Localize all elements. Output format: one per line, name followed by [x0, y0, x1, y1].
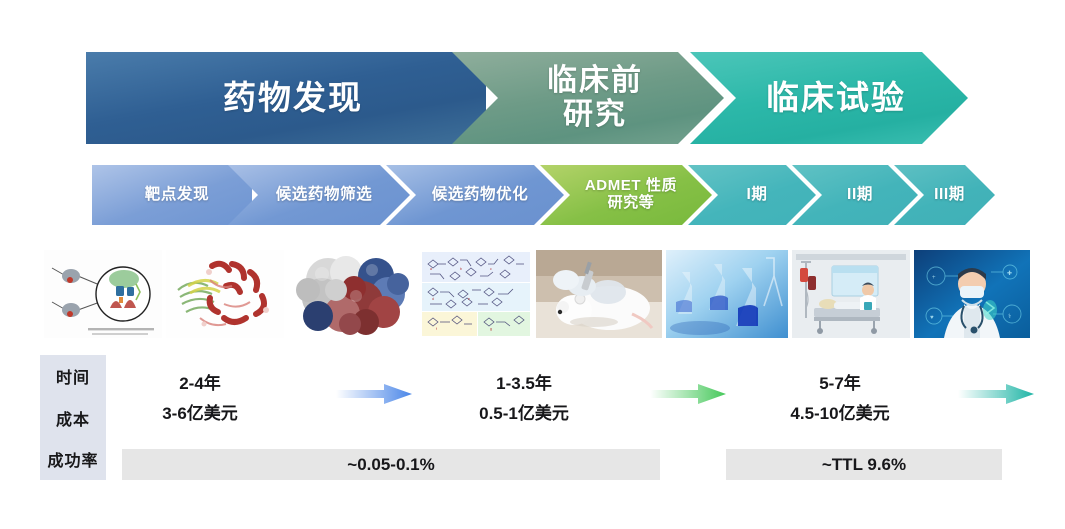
metric-label-cost: 成本	[40, 397, 106, 439]
thumbnail-protein-ribbon	[166, 250, 284, 338]
metric-row-labels: 时间 成本 成功率	[40, 355, 106, 480]
step-label: I期	[736, 186, 767, 203]
svg-text:g: g	[490, 327, 492, 331]
stage-drug-discovery: 药物发现	[86, 52, 486, 144]
success-rate-bar-discovery: ~0.05-0.1%	[122, 449, 660, 480]
svg-text:♥: ♥	[930, 315, 934, 321]
assay-diagram-icon	[44, 250, 162, 338]
stage-label: 临床前研究	[533, 64, 643, 131]
thumbnail-lab-glassware	[666, 250, 788, 338]
svg-text:e: e	[468, 297, 470, 301]
svg-text:c: c	[490, 267, 492, 271]
metric-time-discovery: 2-4年	[120, 369, 280, 394]
metric-cost-discovery: 3-6亿美元	[120, 399, 280, 424]
step-label: III期	[924, 186, 965, 203]
protein-ribbon-icon	[166, 250, 284, 338]
metric-time-preclinical: 1-3.5年	[434, 369, 614, 394]
stage-clinical-trials: 临床试验	[690, 52, 968, 144]
step-candidate-optimization: 候选药物优化	[386, 165, 564, 225]
step-label: ADMET 性质研究等	[575, 178, 677, 212]
arrow-teal-icon	[958, 383, 1034, 405]
step-target-discovery: 靶点发现	[92, 165, 252, 225]
step-candidate-screening: 候选药物筛选	[228, 165, 410, 225]
step-label: 候选药物优化	[422, 186, 529, 203]
thumbnail-reaction-scheme: ab cd ef g	[420, 250, 532, 338]
metric-time-clinical: 5-7年	[750, 369, 930, 394]
thumbnail-lab-mouse	[536, 250, 662, 338]
spacefill-model-icon	[288, 250, 416, 338]
svg-text:⚕: ⚕	[1008, 313, 1011, 320]
arrow-blue-icon	[336, 383, 412, 405]
step-label: 候选药物筛选	[266, 186, 373, 203]
metric-label-time: 时间	[40, 355, 106, 397]
step-admet: ADMET 性质研究等	[540, 165, 712, 225]
svg-text:f: f	[436, 327, 437, 331]
pipeline-diagram: 药物发现 临床前研究 临床试验 靶点发现 候选药物筛选 候选药物优化 ADMET…	[0, 0, 1065, 529]
thumbnail-protein-spacefill	[288, 250, 416, 338]
arrow-green-icon	[650, 383, 726, 405]
thumbnail-digital-doctor: +✚ ♥⚕	[914, 250, 1030, 338]
metric-cost-clinical: 4.5-10亿美元	[750, 399, 930, 424]
thumbnail-assay-diagram	[44, 250, 162, 338]
digital-doctor-icon: +✚ ♥⚕	[914, 250, 1030, 338]
stage-label: 药物发现	[209, 80, 363, 117]
svg-text:✚: ✚	[1007, 270, 1012, 277]
hospital-bed-icon	[792, 250, 910, 338]
metric-cost-preclinical: 0.5-1亿美元	[434, 399, 614, 424]
step-label: II期	[837, 186, 873, 203]
stage-label: 临床试验	[752, 80, 906, 117]
svg-text:b: b	[460, 267, 462, 271]
metric-label-success: 成功率	[40, 438, 106, 480]
lab-glassware-icon	[666, 250, 788, 338]
svg-text:a: a	[430, 267, 432, 271]
reaction-scheme-icon: ab cd ef g	[420, 250, 532, 338]
success-rate-bar-clinical: ~TTL 9.6%	[726, 449, 1002, 480]
lab-mouse-icon	[536, 250, 662, 338]
step-label: 靶点发现	[135, 186, 209, 203]
svg-text:d: d	[432, 297, 434, 301]
stage-preclinical: 临床前研究	[452, 52, 724, 144]
thumbnail-hospital-bed	[792, 250, 910, 338]
svg-text:+: +	[932, 275, 936, 281]
